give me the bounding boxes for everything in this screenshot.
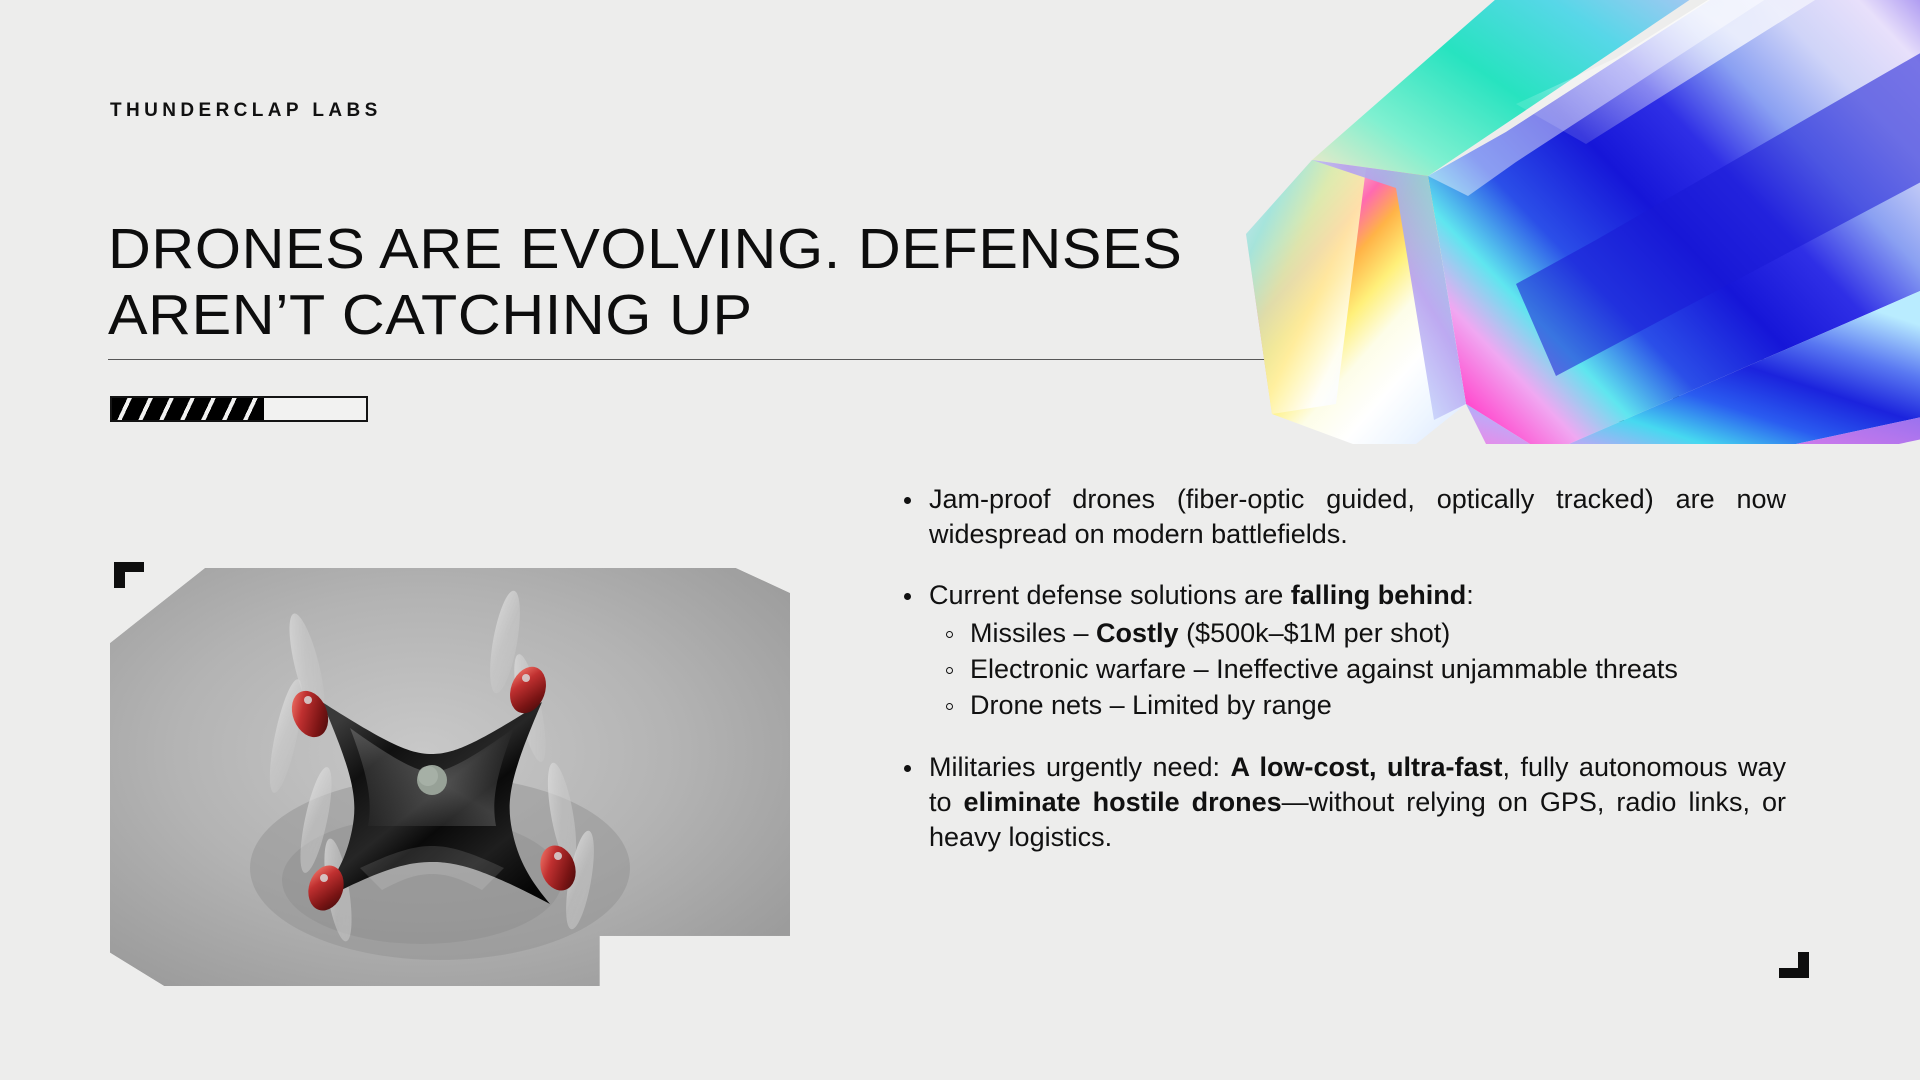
page-title: DRONES ARE EVOLVING. DEFENSES AREN’T CAT… — [108, 216, 1231, 348]
progress-bar-left — [110, 396, 368, 422]
body-copy: Jam-proof drones (fiber-optic guided, op… — [898, 482, 1786, 855]
bracket-bar-vertical — [1798, 952, 1809, 978]
bracket-bar-vertical — [114, 562, 125, 588]
sub-drone-nets: Drone nets – Limited by range — [942, 688, 1786, 723]
sub-missiles: Missiles – Costly ($500k–$1M per shot) — [942, 616, 1786, 651]
progress-bar-right-fill — [1673, 398, 1812, 420]
slide-root: THUNDERCLAP LABS DRONES ARE EVOLVING. DE… — [0, 0, 1920, 1080]
progress-bar-left-fill — [112, 398, 264, 420]
drone-image-panel — [110, 568, 790, 986]
bullet-block-3: Militaries urgently need: A low-cost, ul… — [898, 750, 1786, 855]
progress-bar-right — [1562, 396, 1814, 422]
bullet-list-1: Jam-proof drones (fiber-optic guided, op… — [898, 482, 1786, 552]
header-divider — [108, 359, 1814, 360]
bullet-block-1: Jam-proof drones (fiber-optic guided, op… — [898, 482, 1786, 552]
prism-crystal-icon — [1216, 0, 1920, 444]
sub-bullet-list-2: Missiles – Costly ($500k–$1M per shot) E… — [898, 616, 1786, 723]
drone-quadcopter-icon — [110, 568, 790, 986]
brand-eyebrow: THUNDERCLAP LABS — [110, 100, 382, 122]
bullet-list-2: Current defense solutions are falling be… — [898, 578, 1786, 613]
corner-bracket-bottom-right-icon — [1779, 952, 1809, 978]
bullet-block-2: Current defense solutions are falling be… — [898, 578, 1786, 723]
bullet-list-3: Militaries urgently need: A low-cost, ul… — [898, 750, 1786, 855]
sub-electronic-warfare: Electronic warfare – Ineffective against… — [942, 652, 1786, 687]
bullet-defense-solutions: Current defense solutions are falling be… — [898, 578, 1786, 613]
prism-artwork — [1216, 0, 1920, 444]
page-title-line-1: DRONES ARE EVOLVING. DEFENSES — [108, 216, 1231, 282]
bullet-jam-proof: Jam-proof drones (fiber-optic guided, op… — [898, 482, 1786, 552]
bullet-militaries-need: Militaries urgently need: A low-cost, ul… — [898, 750, 1786, 855]
page-title-line-2: AREN’T CATCHING UP — [108, 282, 1231, 348]
corner-bracket-top-left-icon — [114, 562, 144, 588]
